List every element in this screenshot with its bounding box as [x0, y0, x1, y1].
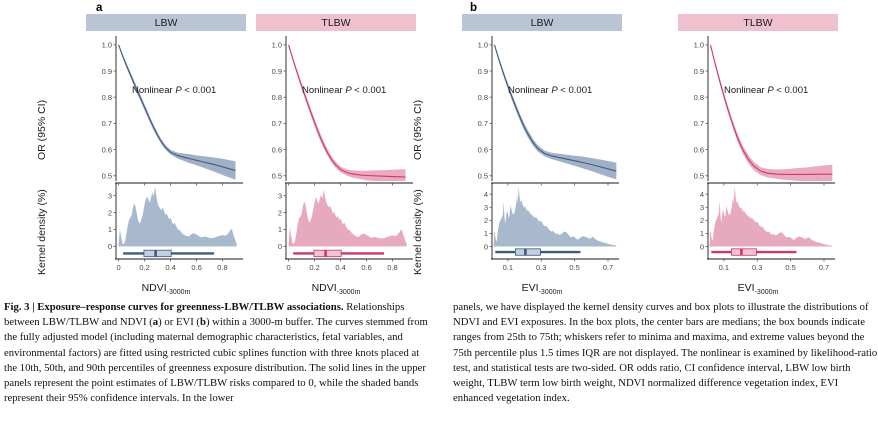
chart-a-lbw-density: 012300.20.40.60.8 [86, 181, 246, 281]
svg-text:0.7: 0.7 [603, 263, 613, 272]
svg-text:Nonlinear P < 0.001: Nonlinear P < 0.001 [302, 85, 386, 96]
svg-text:0.5: 0.5 [785, 263, 795, 272]
svg-text:0.6: 0.6 [272, 145, 282, 154]
chart-b-lbw-or: 0.50.60.70.80.91.0Nonlinear P < 0.001 [462, 31, 622, 181]
svg-text:3: 3 [108, 191, 112, 200]
svg-text:0.8: 0.8 [387, 263, 397, 272]
svg-text:0.4: 0.4 [165, 263, 175, 272]
plot-area: a OR (95% CI) Kernel density (%) LBW 0.5… [0, 0, 878, 296]
svg-text:1.0: 1.0 [694, 41, 704, 50]
figure-caption: Fig. 3 | Exposure–response curves for gr… [0, 300, 878, 434]
svg-text:0.5: 0.5 [272, 172, 282, 181]
column-b-tlbw: TLBW 0.50.60.70.80.91.0Nonlinear P < 0.0… [678, 14, 838, 281]
axis-label-x-a-tlbw: NDVI-3000m [256, 282, 416, 296]
svg-text:1: 1 [108, 225, 112, 234]
panel-a: a OR (95% CI) Kernel density (%) LBW 0.5… [0, 0, 440, 296]
chart-b-tlbw-or: 0.50.60.70.80.91.0Nonlinear P < 0.001 [678, 31, 838, 181]
caption-right-column: panels, we have displayed the kernel den… [453, 300, 878, 434]
caption-left-part2: ) or EVI ( [158, 316, 200, 328]
svg-text:1.0: 1.0 [272, 41, 282, 50]
panel-b-letter: b [470, 2, 477, 14]
svg-text:1.0: 1.0 [102, 41, 112, 50]
svg-text:Nonlinear P < 0.001: Nonlinear P < 0.001 [508, 85, 592, 96]
axis-label-or-b: OR (95% CI) [412, 100, 424, 160]
axis-label-x-a-lbw: NDVI-3000m [86, 282, 246, 296]
axis-label-x-b-lbw: EVI-3000m [462, 282, 622, 296]
svg-text:0: 0 [108, 242, 112, 251]
svg-text:0.5: 0.5 [102, 172, 112, 181]
svg-text:0.6: 0.6 [102, 145, 112, 154]
svg-text:2: 2 [278, 208, 282, 217]
svg-text:0: 0 [484, 242, 488, 251]
svg-text:1: 1 [484, 229, 488, 238]
axis-label-density-b: Kernel density (%) [412, 189, 424, 275]
svg-text:0.2: 0.2 [139, 263, 149, 272]
strip-label-tlbw-b: TLBW [678, 14, 838, 31]
svg-text:0.7: 0.7 [819, 263, 829, 272]
axis-label-or-a: OR (95% CI) [36, 100, 48, 160]
axis-label-density-a: Kernel density (%) [36, 189, 48, 275]
svg-text:3: 3 [278, 191, 282, 200]
chart-b-tlbw-density: 012340.10.30.50.7 [678, 181, 838, 281]
svg-text:0.6: 0.6 [478, 145, 488, 154]
strip-label-lbw-a: LBW [86, 14, 246, 31]
svg-text:0.6: 0.6 [694, 145, 704, 154]
axis-label-x-b-tlbw: EVI-3000m [678, 282, 838, 296]
svg-text:0.9: 0.9 [694, 67, 704, 76]
svg-text:0.3: 0.3 [536, 263, 546, 272]
strip-label-tlbw-a: TLBW [256, 14, 416, 31]
caption-left-column: Fig. 3 | Exposure–response curves for gr… [0, 300, 429, 434]
svg-text:0.6: 0.6 [361, 263, 371, 272]
svg-text:0.9: 0.9 [102, 67, 112, 76]
svg-text:1: 1 [700, 229, 704, 238]
svg-text:0.8: 0.8 [102, 93, 112, 102]
svg-text:0.6: 0.6 [191, 263, 201, 272]
column-a-tlbw: TLBW 0.50.60.70.80.91.0Nonlinear P < 0.0… [256, 14, 416, 281]
svg-text:2: 2 [484, 216, 488, 225]
svg-text:0.7: 0.7 [478, 119, 488, 128]
chart-a-lbw-or: 0.50.60.70.80.91.0Nonlinear P < 0.001 [86, 31, 246, 181]
svg-text:0.8: 0.8 [694, 93, 704, 102]
figure-3: a OR (95% CI) Kernel density (%) LBW 0.5… [0, 0, 878, 434]
svg-text:0.9: 0.9 [272, 67, 282, 76]
svg-text:0: 0 [278, 242, 282, 251]
svg-text:0.7: 0.7 [272, 119, 282, 128]
svg-text:0.9: 0.9 [478, 67, 488, 76]
svg-text:0.5: 0.5 [569, 263, 579, 272]
svg-text:2: 2 [700, 216, 704, 225]
svg-text:0.1: 0.1 [503, 263, 513, 272]
chart-b-lbw-density: 012340.10.30.50.7 [462, 181, 622, 281]
svg-text:0.5: 0.5 [478, 172, 488, 181]
panel-a-letter: a [96, 2, 102, 14]
svg-text:0.3: 0.3 [752, 263, 762, 272]
svg-text:0.8: 0.8 [478, 93, 488, 102]
svg-text:0: 0 [117, 263, 121, 272]
svg-text:Nonlinear P < 0.001: Nonlinear P < 0.001 [132, 85, 216, 96]
svg-text:3: 3 [484, 203, 488, 212]
svg-text:1.0: 1.0 [478, 41, 488, 50]
svg-text:0.5: 0.5 [694, 172, 704, 181]
chart-a-tlbw-or: 0.50.60.70.80.91.0Nonlinear P < 0.001 [256, 31, 416, 181]
svg-text:4: 4 [700, 190, 704, 199]
svg-text:0.7: 0.7 [694, 119, 704, 128]
strip-label-lbw-b: LBW [462, 14, 622, 31]
svg-text:Nonlinear P < 0.001: Nonlinear P < 0.001 [724, 85, 808, 96]
svg-text:1: 1 [278, 225, 282, 234]
svg-text:3: 3 [700, 203, 704, 212]
svg-text:0.1: 0.1 [719, 263, 729, 272]
svg-text:4: 4 [484, 190, 488, 199]
caption-left-part3: ) within a 3000-m buffer. The curves ste… [4, 316, 428, 404]
svg-text:0: 0 [287, 263, 291, 272]
svg-text:0: 0 [700, 242, 704, 251]
svg-text:0.8: 0.8 [272, 93, 282, 102]
svg-text:0.2: 0.2 [309, 263, 319, 272]
column-a-lbw: LBW 0.50.60.70.80.91.0Nonlinear P < 0.00… [86, 14, 246, 281]
panel-b: b OR (95% CI) Kernel density (%) LBW 0.5… [440, 0, 878, 296]
caption-title: Fig. 3 | Exposure–response curves for gr… [4, 301, 344, 313]
chart-a-tlbw-density: 012300.20.40.60.8 [256, 181, 416, 281]
svg-text:0.4: 0.4 [335, 263, 345, 272]
column-b-lbw: LBW 0.50.60.70.80.91.0Nonlinear P < 0.00… [462, 14, 622, 281]
svg-text:2: 2 [108, 208, 112, 217]
svg-text:0.8: 0.8 [217, 263, 227, 272]
svg-text:0.7: 0.7 [102, 119, 112, 128]
